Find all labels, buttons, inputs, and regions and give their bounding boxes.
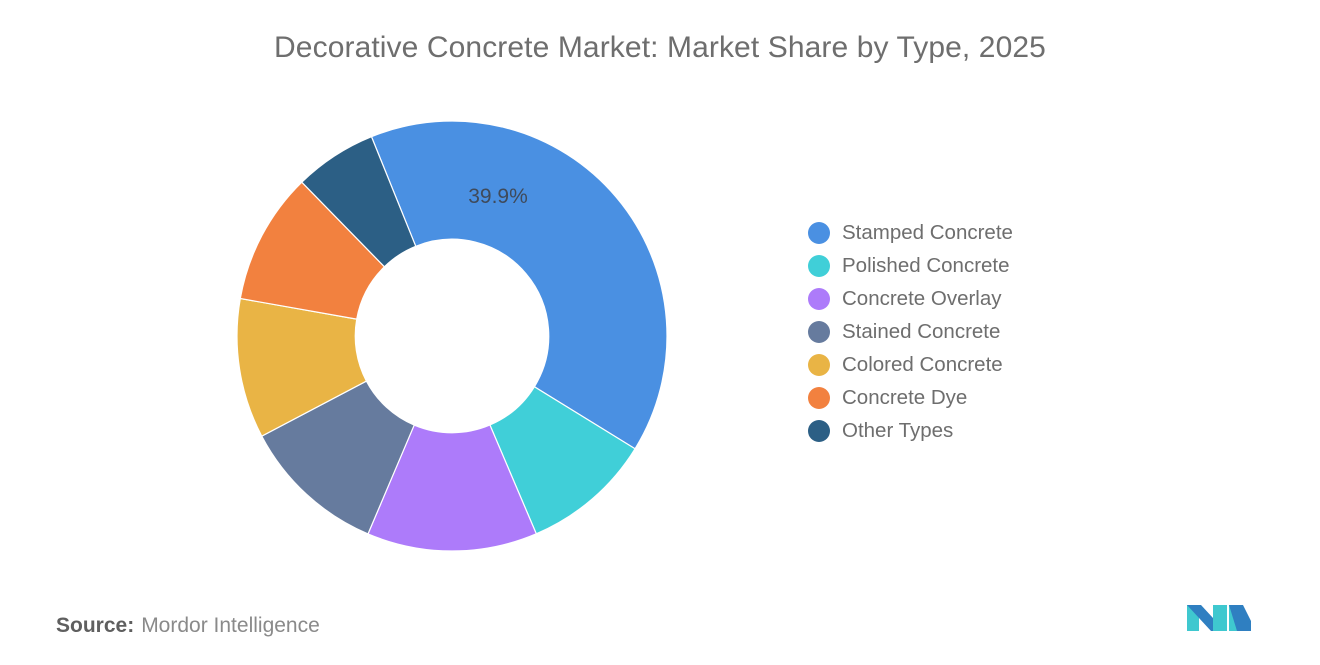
legend-item[interactable]: Stamped Concrete xyxy=(808,216,1108,249)
legend-swatch-icon xyxy=(808,354,830,376)
donut-chart-svg xyxy=(237,121,667,551)
source-label: Source: xyxy=(56,614,134,637)
source-value: Mordor Intelligence xyxy=(141,614,320,637)
legend-swatch-icon xyxy=(808,255,830,277)
donut-slice-group xyxy=(237,121,667,551)
page-title: Decorative Concrete Market: Market Share… xyxy=(0,26,1320,70)
legend-swatch-icon xyxy=(808,288,830,310)
mordor-intelligence-logo xyxy=(1185,599,1253,635)
legend-item[interactable]: Polished Concrete xyxy=(808,249,1108,282)
chart-legend: Stamped ConcretePolished ConcreteConcret… xyxy=(808,216,1108,447)
legend-swatch-icon xyxy=(808,222,830,244)
legend-item[interactable]: Other Types xyxy=(808,414,1108,447)
legend-item[interactable]: Concrete Dye xyxy=(808,381,1108,414)
legend-item-label: Concrete Dye xyxy=(842,387,967,409)
mi-monogram-icon xyxy=(1185,599,1253,635)
legend-item-label: Stamped Concrete xyxy=(842,222,1013,244)
legend-item[interactable]: Colored Concrete xyxy=(808,348,1108,381)
legend-item-label: Other Types xyxy=(842,420,953,442)
source-line: Source:Mordor Intelligence xyxy=(56,611,320,641)
legend-item[interactable]: Concrete Overlay xyxy=(808,282,1108,315)
legend-item-label: Polished Concrete xyxy=(842,255,1010,277)
legend-item-label: Concrete Overlay xyxy=(842,288,1002,310)
legend-swatch-icon xyxy=(808,387,830,409)
donut-slice[interactable] xyxy=(371,121,667,449)
legend-item-label: Stained Concrete xyxy=(842,321,1000,343)
legend-item[interactable]: Stained Concrete xyxy=(808,315,1108,348)
legend-swatch-icon xyxy=(808,420,830,442)
legend-swatch-icon xyxy=(808,321,830,343)
donut-chart: 39.9% xyxy=(237,121,667,551)
legend-item-label: Colored Concrete xyxy=(842,354,1003,376)
